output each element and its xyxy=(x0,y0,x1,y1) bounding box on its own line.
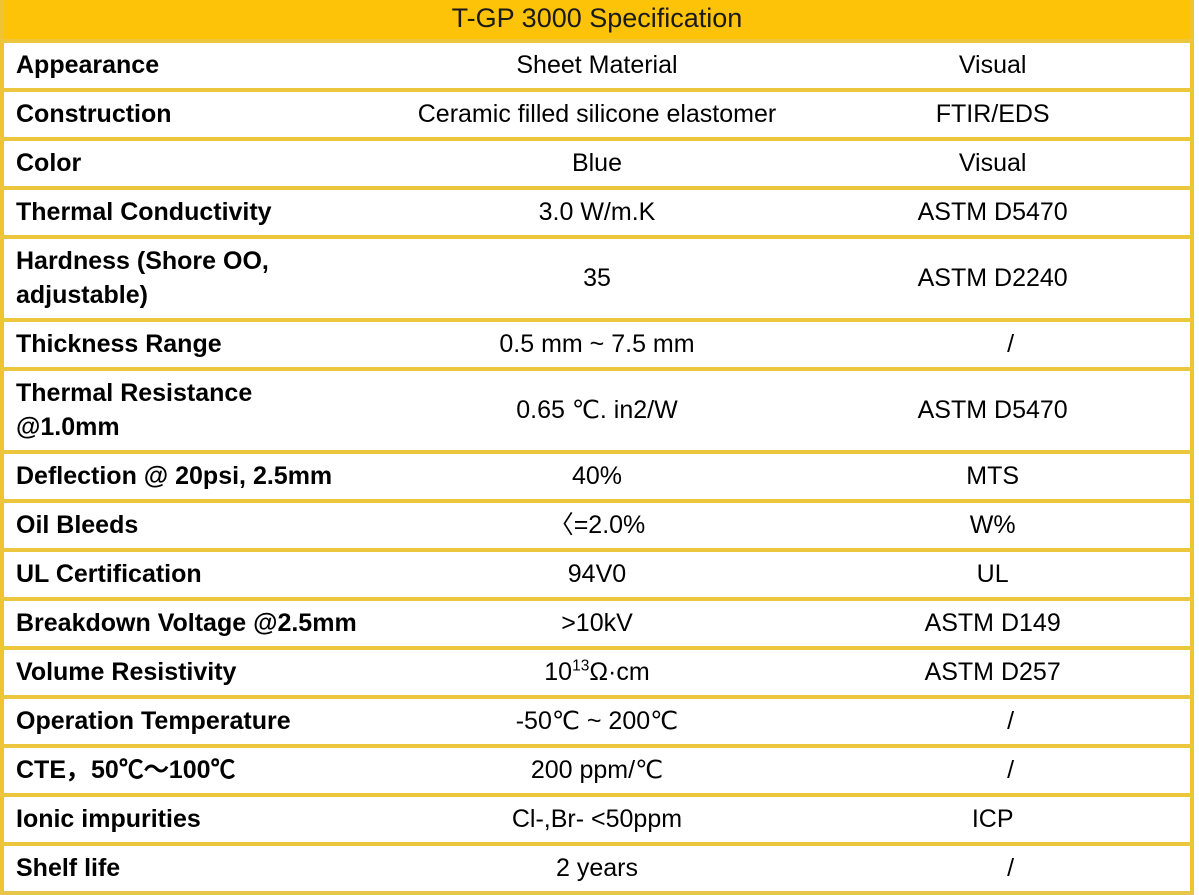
table-row: Ionic impuritiesCl-,Br- <50ppmICP xyxy=(2,795,1192,844)
value-cell: 94V0 xyxy=(399,550,796,599)
value-unit: Ω·cm xyxy=(589,658,649,686)
parameter-cell: Hardness (Shore OO, adjustable) xyxy=(2,237,399,320)
test-method-cell: / xyxy=(795,844,1192,893)
parameter-cell: Thickness Range xyxy=(2,320,399,369)
table-body: T-GP 3000 Specification AppearanceSheet … xyxy=(2,0,1192,893)
table-row: Breakdown Voltage @2.5mm>10kVASTM D149 xyxy=(2,599,1192,648)
parameter-cell: Volume Resistivity xyxy=(2,648,399,697)
parameter-cell: Color xyxy=(2,139,399,188)
test-method-cell: Visual xyxy=(795,41,1192,90)
table-row: Thickness Range0.5 mm ~ 7.5 mm/ xyxy=(2,320,1192,369)
parameter-cell: Operation Temperature xyxy=(2,697,399,746)
value-cell: 0.65 ℃. in2/W xyxy=(399,369,796,452)
parameter-cell: Oil Bleeds xyxy=(2,501,399,550)
value-cell: Blue xyxy=(399,139,796,188)
parameter-cell: Thermal Conductivity xyxy=(2,188,399,237)
value-cell: 3.0 W/m.K xyxy=(399,188,796,237)
table-row: Volume Resistivity1013Ω·cmASTM D257 xyxy=(2,648,1192,697)
test-method-cell: ASTM D149 xyxy=(795,599,1192,648)
test-method-cell: ASTM D257 xyxy=(795,648,1192,697)
table-title-row: T-GP 3000 Specification xyxy=(2,0,1192,41)
test-method-cell: / xyxy=(795,697,1192,746)
value-cell: 40% xyxy=(399,452,796,501)
specification-table: T-GP 3000 Specification AppearanceSheet … xyxy=(0,0,1194,895)
test-method-cell: / xyxy=(795,320,1192,369)
parameter-cell: Ionic impurities xyxy=(2,795,399,844)
table-row: Hardness (Shore OO, adjustable)35ASTM D2… xyxy=(2,237,1192,320)
table-row: Thermal Conductivity3.0 W/m.KASTM D5470 xyxy=(2,188,1192,237)
parameter-cell: Construction xyxy=(2,90,399,139)
table-row: UL Certification94V0UL xyxy=(2,550,1192,599)
parameter-cell: Thermal Resistance @1.0mm xyxy=(2,369,399,452)
value-cell: -50℃ ~ 200℃ xyxy=(399,697,796,746)
test-method-cell: Visual xyxy=(795,139,1192,188)
table-row: ConstructionCeramic filled silicone elas… xyxy=(2,90,1192,139)
table-row: Oil Bleeds〈=2.0%W% xyxy=(2,501,1192,550)
table-row: AppearanceSheet MaterialVisual xyxy=(2,41,1192,90)
value-cell: Ceramic filled silicone elastomer xyxy=(399,90,796,139)
test-method-cell: MTS xyxy=(795,452,1192,501)
value-cell: 1013Ω·cm xyxy=(399,648,796,697)
value-cell: >10kV xyxy=(399,599,796,648)
test-method-cell: FTIR/EDS xyxy=(795,90,1192,139)
test-method-cell: ASTM D2240 xyxy=(795,237,1192,320)
test-method-cell: W% xyxy=(795,501,1192,550)
parameter-cell: Appearance xyxy=(2,41,399,90)
value-cell: 0.5 mm ~ 7.5 mm xyxy=(399,320,796,369)
page-title: T-GP 3000 Specification xyxy=(2,0,1192,41)
value-cell: 200 ppm/℃ xyxy=(399,746,796,795)
test-method-cell: / xyxy=(795,746,1192,795)
table-row: Thermal Resistance @1.0mm0.65 ℃. in2/WAS… xyxy=(2,369,1192,452)
parameter-cell: Breakdown Voltage @2.5mm xyxy=(2,599,399,648)
value-exponent: 13 xyxy=(572,658,589,675)
test-method-cell: ASTM D5470 xyxy=(795,188,1192,237)
value-cell: 〈=2.0% xyxy=(399,501,796,550)
value-cell: Sheet Material xyxy=(399,41,796,90)
parameter-cell: CTE，50℃～100℃ xyxy=(2,746,399,795)
table-row: CTE，50℃～100℃200 ppm/℃/ xyxy=(2,746,1192,795)
table-row: ColorBlueVisual xyxy=(2,139,1192,188)
parameter-cell: UL Certification xyxy=(2,550,399,599)
table-row: Shelf life2 years/ xyxy=(2,844,1192,893)
table-row: Operation Temperature-50℃ ~ 200℃/ xyxy=(2,697,1192,746)
parameter-cell: Shelf life xyxy=(2,844,399,893)
test-method-cell: ASTM D5470 xyxy=(795,369,1192,452)
value-cell: 35 xyxy=(399,237,796,320)
parameter-cell: Deflection @ 20psi, 2.5mm xyxy=(2,452,399,501)
value-base: 10 xyxy=(544,658,572,686)
value-cell: 2 years xyxy=(399,844,796,893)
value-cell: Cl-,Br- <50ppm xyxy=(399,795,796,844)
table-row: Deflection @ 20psi, 2.5mm40%MTS xyxy=(2,452,1192,501)
test-method-cell: UL xyxy=(795,550,1192,599)
test-method-cell: ICP xyxy=(795,795,1192,844)
